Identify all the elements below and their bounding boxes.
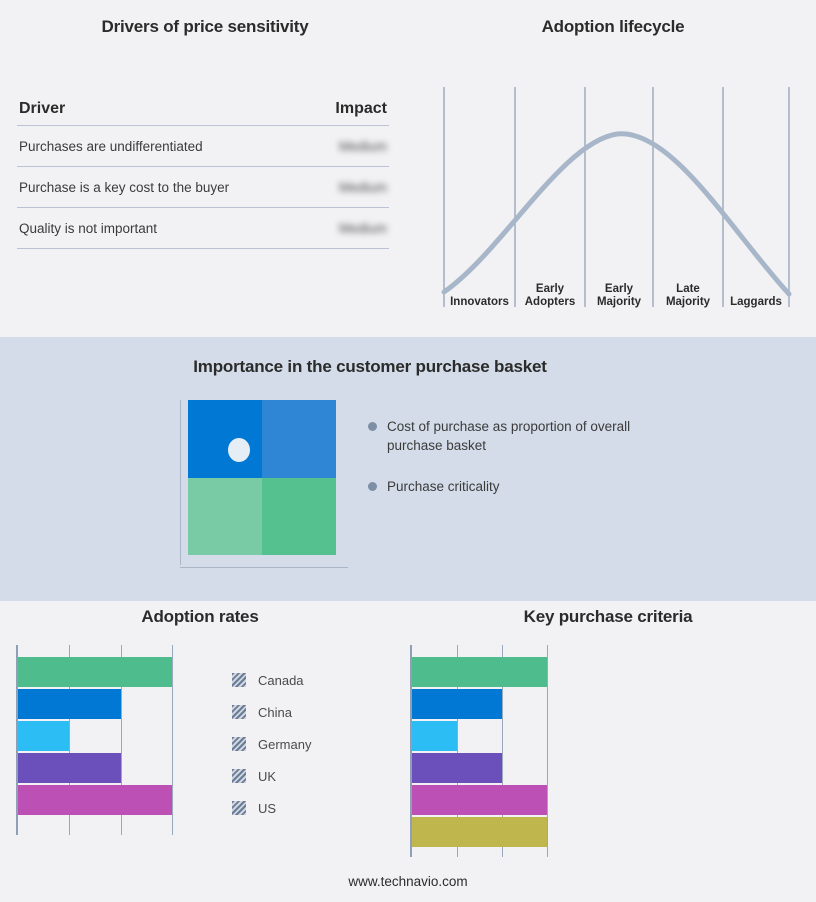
- adoption-rates-title: Adoption rates: [0, 607, 400, 627]
- stage-line-2: Majority: [597, 296, 641, 308]
- table-row: Purchases are undifferentiated Medium: [17, 126, 389, 167]
- matrix-quadrant-bottom-right: [262, 478, 336, 556]
- adoption-rates-legend: CanadaChinaGermanyUKUS: [232, 645, 311, 825]
- impact-value: Medium: [317, 139, 387, 154]
- drivers-table: Driver Impact Purchases are undifferenti…: [17, 92, 389, 249]
- driver-label: Purchases are undifferentiated: [19, 139, 203, 154]
- legend-label: Purchase criticality: [387, 477, 500, 496]
- lifecycle-curve-svg: [422, 72, 804, 317]
- bar-relatability: [412, 753, 502, 783]
- matrix-position-marker: [228, 438, 250, 462]
- gridline: [547, 645, 548, 857]
- stage-line-2: Adopters: [525, 296, 575, 308]
- legend-label: Canada: [258, 673, 304, 688]
- legend-item: UK: [232, 761, 311, 791]
- matrix-quadrant-top-left: [188, 400, 262, 478]
- legend-swatch-icon: [232, 673, 246, 687]
- drivers-panel: Drivers of price sensitivity Driver Impa…: [0, 0, 410, 337]
- legend-label: China: [258, 705, 292, 720]
- table-row: Purchase is a key cost to the buyer Medi…: [17, 167, 389, 208]
- bar-innovation: [412, 657, 547, 687]
- adoption-lifecycle-panel: Adoption lifecycle Innovators Early Adop…: [410, 0, 816, 337]
- key-purchase-criteria-title: Key purchase criteria: [400, 607, 816, 627]
- legend-label: UK: [258, 769, 276, 784]
- impact-value: Medium: [317, 221, 387, 236]
- matrix-y-axis: [180, 400, 181, 565]
- legend-swatch-icon: [232, 769, 246, 783]
- bottom-section: Adoption rates CanadaChinaGermanyUKUS Ke…: [0, 601, 816, 902]
- column-header-driver: Driver: [19, 100, 65, 118]
- bar-price: [412, 689, 502, 719]
- legend-item: Germany: [232, 729, 311, 759]
- legend-swatch-icon: [232, 737, 246, 751]
- top-section: Drivers of price sensitivity Driver Impa…: [0, 0, 816, 337]
- bar-uk: [18, 753, 121, 783]
- legend-swatch-icon: [232, 705, 246, 719]
- stage-line-1: Early: [536, 283, 564, 295]
- stage-line-1: Late: [676, 283, 700, 295]
- legend-label: Germany: [258, 737, 311, 752]
- bar-china: [18, 689, 121, 719]
- table-row: Quality is not important Medium: [17, 208, 389, 249]
- footer-url: www.technavio.com: [0, 874, 816, 889]
- matrix-quadrant-top-right: [262, 400, 336, 478]
- legend-item: US: [232, 793, 311, 823]
- matrix-quadrants: [188, 400, 336, 555]
- lifecycle-stage-laggards: Laggards: [723, 296, 789, 309]
- table-header-row: Driver Impact: [17, 92, 389, 126]
- bar-quality: [412, 721, 457, 751]
- bar-canada: [18, 657, 172, 687]
- bullet-dot-icon: [368, 422, 377, 431]
- stage-line-1: Early: [605, 283, 633, 295]
- legend-item: Purchase criticality: [368, 477, 658, 496]
- matrix-quadrant-bottom-left: [188, 478, 262, 556]
- bar-regulatory-compliance: [412, 785, 547, 815]
- bar-service: [412, 817, 547, 847]
- lifecycle-stage-innovators: Innovators: [444, 296, 515, 309]
- bar-us: [18, 785, 172, 815]
- adoption-rates-plot-area: [16, 645, 223, 835]
- gridline: [172, 645, 173, 835]
- stage-line-2: Innovators: [450, 296, 509, 308]
- stage-line-2: Laggards: [730, 296, 782, 308]
- legend-item: Cost of purchase as proportion of overal…: [368, 417, 658, 455]
- purchase-basket-legend: Cost of purchase as proportion of overal…: [368, 417, 658, 518]
- legend-label: US: [258, 801, 276, 816]
- purchase-basket-section: Importance in the customer purchase bask…: [0, 337, 816, 601]
- adoption-lifecycle-chart: Innovators Early Adopters Early Majority…: [422, 72, 804, 317]
- key-purchase-criteria-chart: [410, 645, 590, 857]
- driver-label: Quality is not important: [19, 221, 157, 236]
- driver-label: Purchase is a key cost to the buyer: [19, 180, 229, 195]
- legend-label: Cost of purchase as proportion of overal…: [387, 417, 658, 455]
- key-purchase-criteria-plot-area: [410, 645, 592, 857]
- purchase-basket-title: Importance in the customer purchase bask…: [0, 357, 740, 377]
- impact-value: Medium: [317, 180, 387, 195]
- bullet-dot-icon: [368, 482, 377, 491]
- column-header-impact: Impact: [317, 100, 387, 118]
- lifecycle-stage-late-majority: Late Majority: [653, 283, 723, 309]
- bar-germany: [18, 721, 69, 751]
- matrix-x-axis: [180, 567, 348, 568]
- lifecycle-stage-early-majority: Early Majority: [585, 283, 653, 309]
- stage-line-2: Majority: [666, 296, 710, 308]
- purchase-basket-matrix: [180, 400, 348, 568]
- legend-item: Canada: [232, 665, 311, 695]
- legend-item: China: [232, 697, 311, 727]
- lifecycle-stage-early-adopters: Early Adopters: [515, 283, 585, 309]
- legend-swatch-icon: [232, 801, 246, 815]
- drivers-title: Drivers of price sensitivity: [0, 17, 410, 37]
- adoption-rates-chart: [16, 645, 221, 835]
- adoption-lifecycle-title: Adoption lifecycle: [410, 17, 816, 37]
